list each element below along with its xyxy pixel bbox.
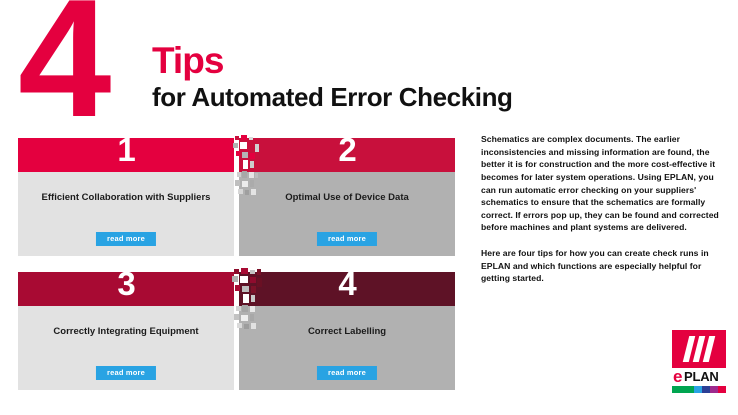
card-row-top: 1 Efficient Collaboration with Suppliers…: [18, 138, 455, 256]
tip-card-4[interactable]: 4 Correct Labelling read more: [239, 272, 455, 390]
tip-card-1-body: Efficient Collaboration with Suppliers r…: [18, 172, 234, 256]
logo-slash-icon: [703, 336, 715, 362]
body-paragraph-2: Here are four tips for how you can creat…: [481, 247, 731, 285]
body-text-column: Schematics are complex documents. The ea…: [481, 133, 731, 298]
body-paragraph-1: Schematics are complex documents. The ea…: [481, 133, 731, 234]
color-swatch-green: [672, 386, 694, 393]
tip-card-2[interactable]: 2 Optimal Use of Device Data read more: [239, 138, 455, 256]
headline-big-number: 4: [18, 0, 105, 142]
tip-card-3[interactable]: 3 Correctly Integrating Equipment read m…: [18, 272, 234, 390]
tip-card-3-read-more-button[interactable]: read more: [96, 366, 156, 381]
color-swatch-navy: [702, 386, 710, 393]
headline-text-block: Tips for Automated Error Checking: [152, 42, 513, 111]
tip-card-1-header: 1: [18, 138, 234, 172]
tip-card-1-number: 1: [18, 133, 234, 166]
page-header: 4 Tips for Automated Error Checking: [0, 0, 520, 126]
eplan-wordmark: e PLAN: [672, 368, 726, 385]
tip-card-2-read-more-button[interactable]: read more: [317, 232, 377, 247]
card-row-bottom: 3 Correctly Integrating Equipment read m…: [18, 272, 455, 390]
eplan-logo: e PLAN: [672, 330, 726, 393]
eplan-color-bar: [672, 386, 726, 393]
tip-card-4-header: 4: [239, 272, 455, 306]
tip-card-1-title: Efficient Collaboration with Suppliers: [26, 192, 226, 204]
tip-card-2-header: 2: [239, 138, 455, 172]
tip-card-3-body: Correctly Integrating Equipment read mor…: [18, 306, 234, 390]
color-swatch-purple: [710, 386, 718, 393]
tip-card-4-number: 4: [239, 267, 455, 300]
headline-tips-label: Tips: [152, 42, 513, 81]
color-swatch-red: [718, 386, 726, 393]
headline-subtitle: for Automated Error Checking: [152, 83, 513, 112]
tip-card-2-body: Optimal Use of Device Data read more: [239, 172, 455, 256]
tip-card-4-body: Correct Labelling read more: [239, 306, 455, 390]
tip-card-4-read-more-button[interactable]: read more: [317, 366, 377, 381]
eplan-wordmark-plan: PLAN: [684, 369, 719, 385]
tip-card-2-number: 2: [239, 133, 455, 166]
tip-card-2-title: Optimal Use of Device Data: [247, 192, 447, 204]
tip-card-3-header: 3: [18, 272, 234, 306]
tip-card-4-title: Correct Labelling: [247, 326, 447, 338]
tip-card-3-title: Correctly Integrating Equipment: [26, 326, 226, 338]
tips-card-grid: 1 Efficient Collaboration with Suppliers…: [18, 138, 455, 390]
tip-card-1[interactable]: 1 Efficient Collaboration with Suppliers…: [18, 138, 234, 256]
color-swatch-blue: [694, 386, 702, 393]
eplan-logo-mark-icon: [672, 330, 726, 368]
tip-card-3-number: 3: [18, 267, 234, 300]
tip-card-1-read-more-button[interactable]: read more: [96, 232, 156, 247]
eplan-wordmark-e: e: [673, 368, 682, 385]
